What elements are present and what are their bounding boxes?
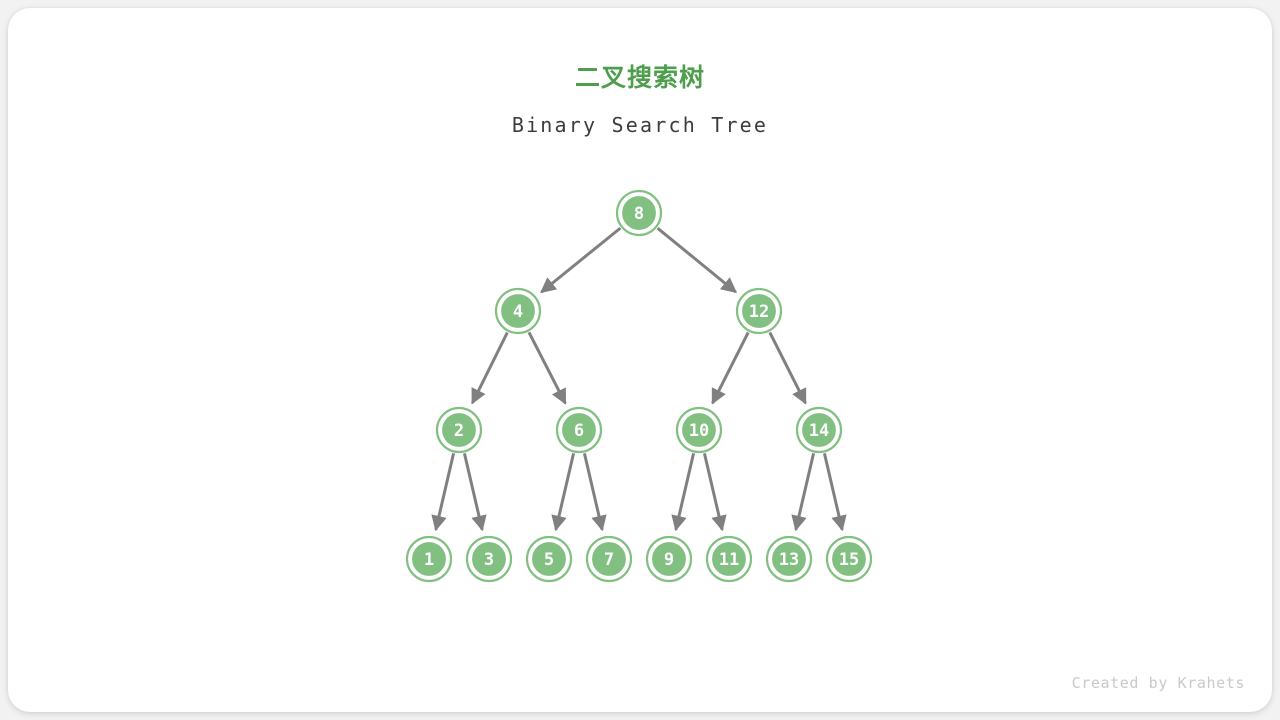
binary-search-tree-diagram: 841226101413579111315 <box>8 8 1272 712</box>
tree-edge <box>556 453 574 529</box>
tree-node-label: 1 <box>424 550 434 570</box>
tree-node[interactable]: 1 <box>407 537 451 581</box>
tree-edge <box>541 228 620 292</box>
tree-node[interactable]: 9 <box>647 537 691 581</box>
tree-node-label: 4 <box>513 302 523 322</box>
tree-node-label: 10 <box>689 421 709 441</box>
tree-edges-layer <box>436 228 842 530</box>
tree-node-label: 3 <box>484 550 494 570</box>
tree-node[interactable]: 7 <box>587 537 631 581</box>
tree-edge <box>704 453 722 529</box>
tree-node[interactable]: 11 <box>707 537 751 581</box>
tree-node-label: 15 <box>839 550 859 570</box>
tree-node[interactable]: 13 <box>767 537 811 581</box>
tree-node[interactable]: 12 <box>737 289 781 333</box>
tree-edge <box>584 453 602 529</box>
tree-edge <box>464 453 482 529</box>
tree-node[interactable]: 15 <box>827 537 871 581</box>
tree-edge <box>658 228 736 292</box>
tree-node-label: 6 <box>574 421 584 441</box>
tree-node-label: 11 <box>719 550 739 570</box>
diagram-card: 二叉搜索树 Binary Search Tree 841226101413579… <box>8 8 1272 712</box>
tree-node[interactable]: 10 <box>677 408 721 452</box>
tree-node[interactable]: 14 <box>797 408 841 452</box>
tree-node[interactable]: 3 <box>467 537 511 581</box>
tree-node[interactable]: 5 <box>527 537 571 581</box>
credit-watermark: Created by Krahets <box>1072 674 1245 692</box>
tree-edge <box>796 453 814 529</box>
tree-edge <box>713 332 749 403</box>
tree-node-label: 2 <box>454 421 464 441</box>
tree-node-label: 12 <box>749 302 769 322</box>
tree-node-label: 9 <box>664 550 674 570</box>
tree-node-label: 7 <box>604 550 614 570</box>
figure-container: 二叉搜索树 Binary Search Tree 841226101413579… <box>8 8 1272 712</box>
tree-edge <box>472 333 507 404</box>
tree-edge <box>676 453 694 529</box>
tree-node-label: 8 <box>634 204 644 224</box>
tree-edge <box>770 332 806 403</box>
tree-node-label: 5 <box>544 550 554 570</box>
tree-edge <box>436 453 454 529</box>
tree-node-label: 13 <box>779 550 799 570</box>
tree-node-label: 14 <box>809 421 829 441</box>
tree-nodes-layer: 841226101413579111315 <box>407 191 871 581</box>
tree-edge <box>824 453 842 529</box>
tree-node[interactable]: 6 <box>557 408 601 452</box>
tree-node[interactable]: 4 <box>496 289 540 333</box>
tree-node[interactable]: 8 <box>617 191 661 235</box>
tree-node[interactable]: 2 <box>437 408 481 452</box>
tree-edge <box>529 332 565 403</box>
